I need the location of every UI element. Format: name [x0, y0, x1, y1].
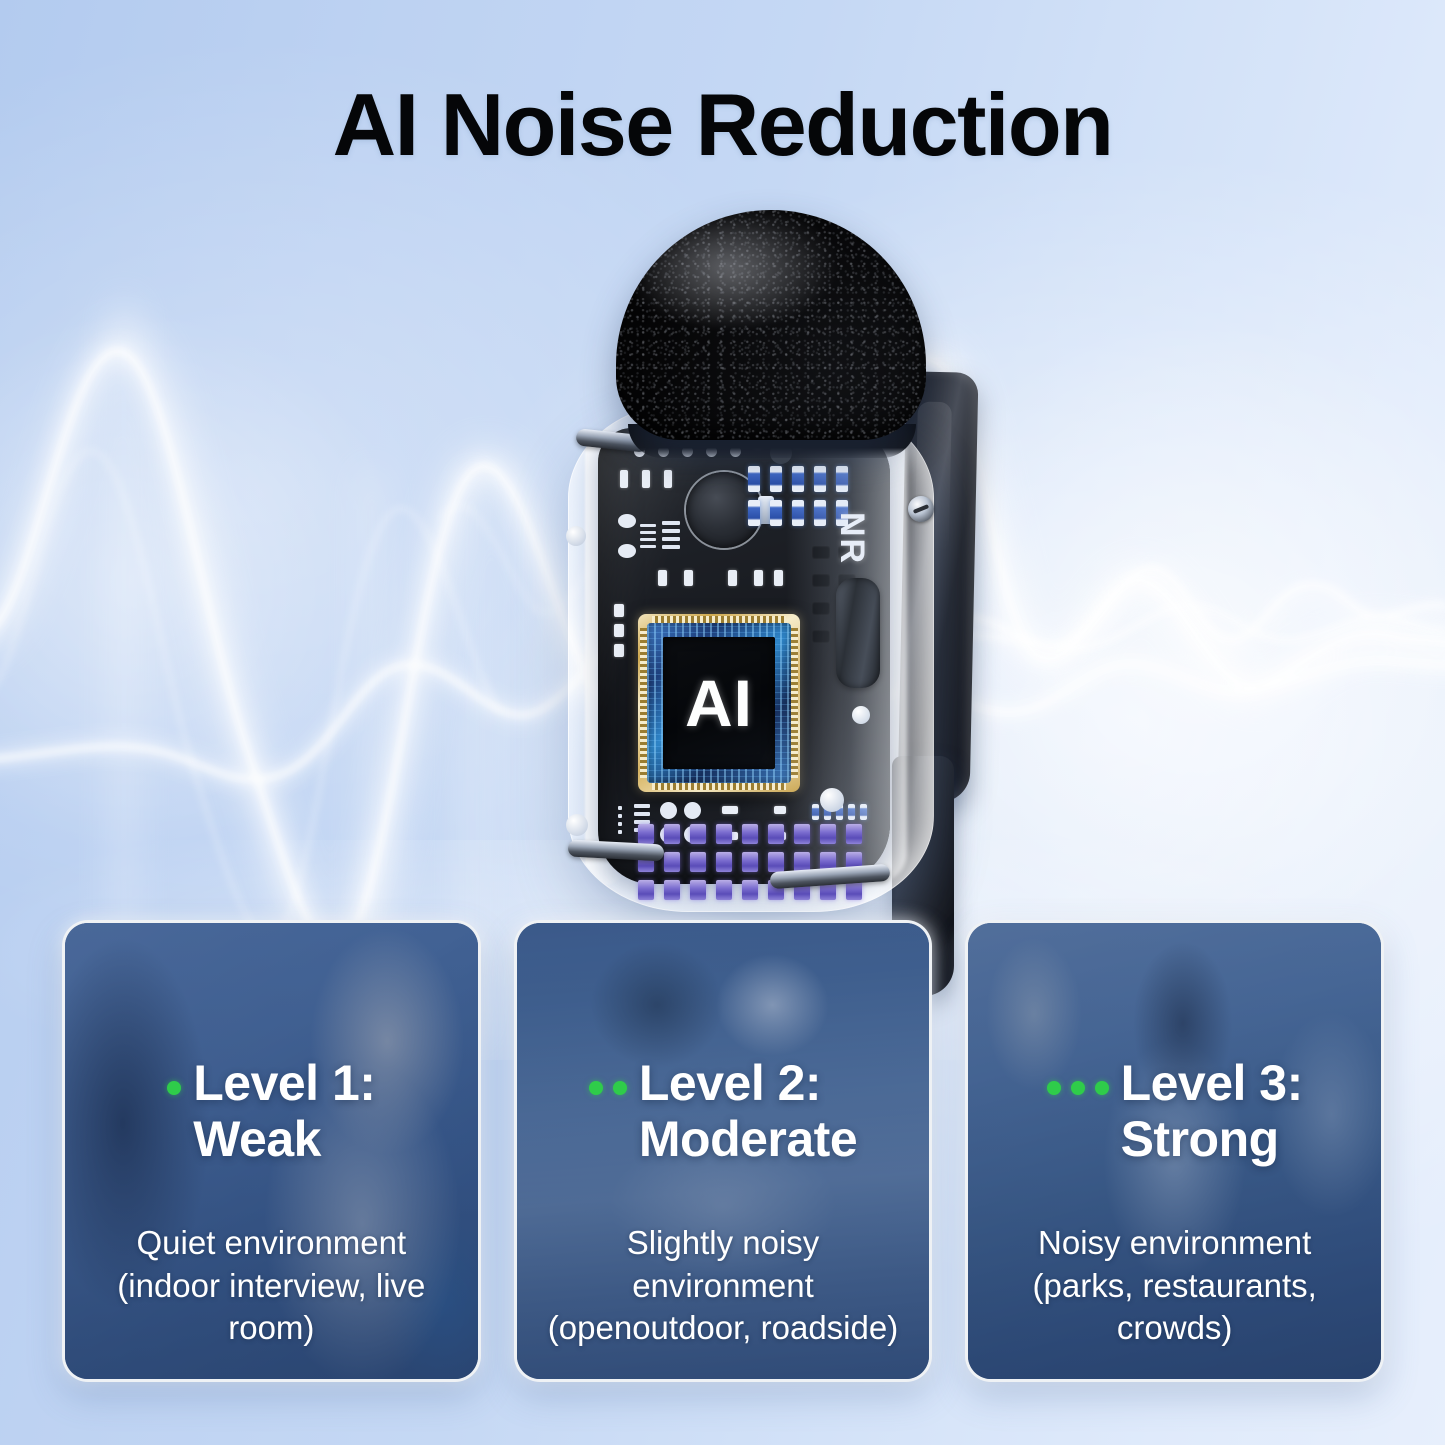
level-dot — [1095, 1081, 1109, 1095]
level-card-2[interactable]: Level 2: Moderate Slightly noisy environ… — [514, 920, 933, 1382]
level-card-3[interactable]: Level 3: Strong Noisy environment (parks… — [965, 920, 1384, 1382]
solder-ball-c — [820, 788, 844, 812]
level-dot — [589, 1081, 603, 1095]
foam-windscreen — [616, 210, 926, 440]
product-image-microphone: AI — [520, 196, 1000, 936]
solder-ball-b — [566, 814, 588, 836]
level-indicator-dots — [589, 1055, 627, 1095]
level-caption: Slightly noisy environment (openoutdoor,… — [535, 1222, 912, 1349]
level-title: Level 2: Moderate — [639, 1055, 857, 1167]
level-title: Level 3: Strong — [1121, 1055, 1303, 1167]
level-dot — [613, 1081, 627, 1095]
level-caption: Quiet environment (indoor interview, liv… — [83, 1222, 460, 1349]
level-heading-row: Level 3: Strong — [1047, 1055, 1303, 1167]
product-feature-banner: AI Noise Reduction — [0, 0, 1445, 1445]
level-card-1[interactable]: Level 1: Weak Quiet environment (indoor … — [62, 920, 481, 1382]
noise-reduction-button-label: NR — [832, 512, 871, 565]
level-heading-row: Level 2: Moderate — [589, 1055, 857, 1167]
noise-reduction-button[interactable] — [836, 578, 880, 688]
level-heading-row: Level 1: Weak — [167, 1055, 375, 1167]
noise-reduction-levels-list: Level 1: Weak Quiet environment (indoor … — [62, 920, 1384, 1382]
level-dot — [1047, 1081, 1061, 1095]
level-title: Level 1: Weak — [193, 1055, 375, 1167]
level-dot — [1071, 1081, 1085, 1095]
solder-ball-d — [852, 706, 870, 724]
solder-ball-a — [566, 526, 586, 546]
level-indicator-dots — [167, 1055, 181, 1095]
level-caption: Noisy environment (parks, restaurants, c… — [986, 1222, 1363, 1349]
foam-highlight — [638, 220, 828, 330]
level-indicator-dots — [1047, 1055, 1109, 1095]
background-glow-left — [0, 300, 420, 860]
level-dot — [167, 1081, 181, 1095]
clip-pivot-screw — [908, 496, 934, 522]
page-title: AI Noise Reduction — [0, 74, 1445, 176]
